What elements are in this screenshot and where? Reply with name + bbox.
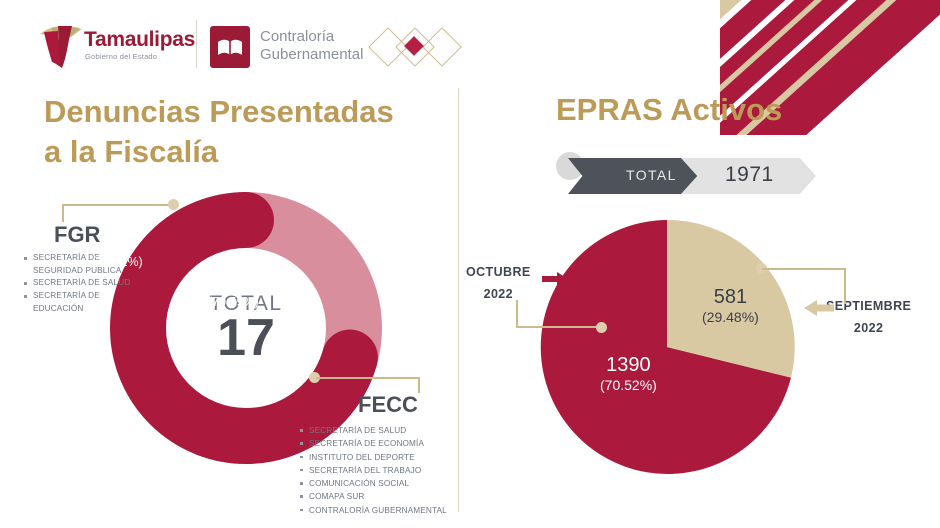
octubre-line2: 2022 [484, 287, 513, 301]
banner-value-chevron: 1971 [681, 158, 816, 194]
octubre-value: 1390 [600, 354, 657, 377]
list-item: INSTITUTO DEL DEPORTE [300, 451, 470, 464]
septiembre-leader-line-h [762, 268, 846, 270]
fecc-dependency-list: SECRETARÍA DE SALUD SECRETARÍA DE ECONOM… [300, 424, 470, 517]
octubre-callout-label: OCTUBRE 2022 [466, 262, 531, 306]
septiembre-line1: SEPTIEMBRE [826, 299, 911, 313]
banner-total-label: TOTAL [626, 167, 677, 183]
pie-label-octubre: 1390 (70.52%) [600, 354, 657, 393]
right-chart-title: EPRAS Activos [556, 92, 886, 128]
fecc-value: 12 [208, 277, 259, 295]
octubre-line1: OCTUBRE [466, 265, 531, 279]
septiembre-leader-line-v [844, 268, 846, 304]
octubre-percent: (70.52%) [600, 377, 657, 393]
header-bar: Tamaulipas Gobierno del Estado Contralor… [0, 0, 940, 86]
epras-total-banner: TOTAL 1971 [556, 150, 816, 196]
banner-total-value: 1971 [725, 163, 774, 187]
fecc-leader-line-h [316, 377, 420, 379]
octubre-leader-line-v [516, 300, 518, 328]
left-title-line2: a la Fiscalía [44, 134, 218, 169]
fecc-heading: FECC [358, 392, 418, 418]
septiembre-callout-label: SEPTIEMBRE 2022 [826, 296, 911, 340]
contraloria-logo: Contraloría Gubernamental [210, 24, 360, 70]
fgr-leader-line-h [62, 204, 174, 206]
fgr-leader-dot [168, 199, 179, 210]
septiembre-value: 581 [702, 286, 759, 309]
list-item: COMUNICACIÓN SOCIAL [300, 477, 470, 490]
diamond-ornament-icon [368, 26, 460, 68]
book-icon [210, 26, 250, 68]
contraloria-line1: Contraloría [260, 28, 334, 45]
tamaulipas-wordmark: Tamaulipas [84, 28, 195, 52]
left-title-line1: Denuncias Presentadas [44, 94, 394, 129]
arrow-left-icon [804, 300, 834, 316]
tamaulipas-logo: Tamaulipas Gobierno del Estado [38, 22, 188, 70]
list-item: SECRETARÍA DE ECONOMÍA [300, 437, 470, 450]
epras-pie-chart [538, 218, 796, 476]
fgr-leader-line-v [62, 204, 64, 222]
list-item: SECRETARÍA DEL TRABAJO [300, 464, 470, 477]
list-item: SECRETARÍA DE EDUCACIÓN [24, 290, 144, 315]
donut-total-value: 17 [217, 312, 275, 364]
fecc-leader-line-v [418, 377, 420, 393]
list-item: SECRETARÍA DE SALUD [300, 424, 470, 437]
list-item: SECRETARÍA DE SALUD [24, 277, 144, 290]
tamaulipas-bird-icon [38, 22, 84, 70]
pie-label-septiembre: 581 (29.48%) [702, 286, 759, 325]
contraloria-line2: Gubernamental [260, 46, 363, 63]
fgr-value: 5 [92, 237, 143, 255]
septiembre-line2: 2022 [854, 321, 883, 335]
fecc-percent: (70.59%) [208, 295, 259, 309]
donut-label-fgr: 5 (29.41%) [92, 237, 143, 269]
slide-canvas: Tamaulipas Gobierno del Estado Contralor… [0, 0, 940, 528]
list-item: CONTRALORÍA GUBERNAMENTAL [300, 504, 470, 517]
donut-label-fecc: 12 (70.59%) [208, 277, 259, 309]
arrow-right-icon [542, 272, 568, 286]
left-chart-title: Denuncias Presentadas a la Fiscalía [44, 92, 444, 171]
octubre-leader-line-h [516, 326, 600, 328]
septiembre-percent: (29.48%) [702, 309, 759, 325]
tamaulipas-subtitle: Gobierno del Estado [85, 52, 157, 61]
list-item: COMAPA SUR [300, 490, 470, 503]
octubre-leader-dot [596, 322, 607, 333]
header-divider [196, 20, 197, 68]
fgr-percent: (29.41%) [92, 255, 143, 269]
